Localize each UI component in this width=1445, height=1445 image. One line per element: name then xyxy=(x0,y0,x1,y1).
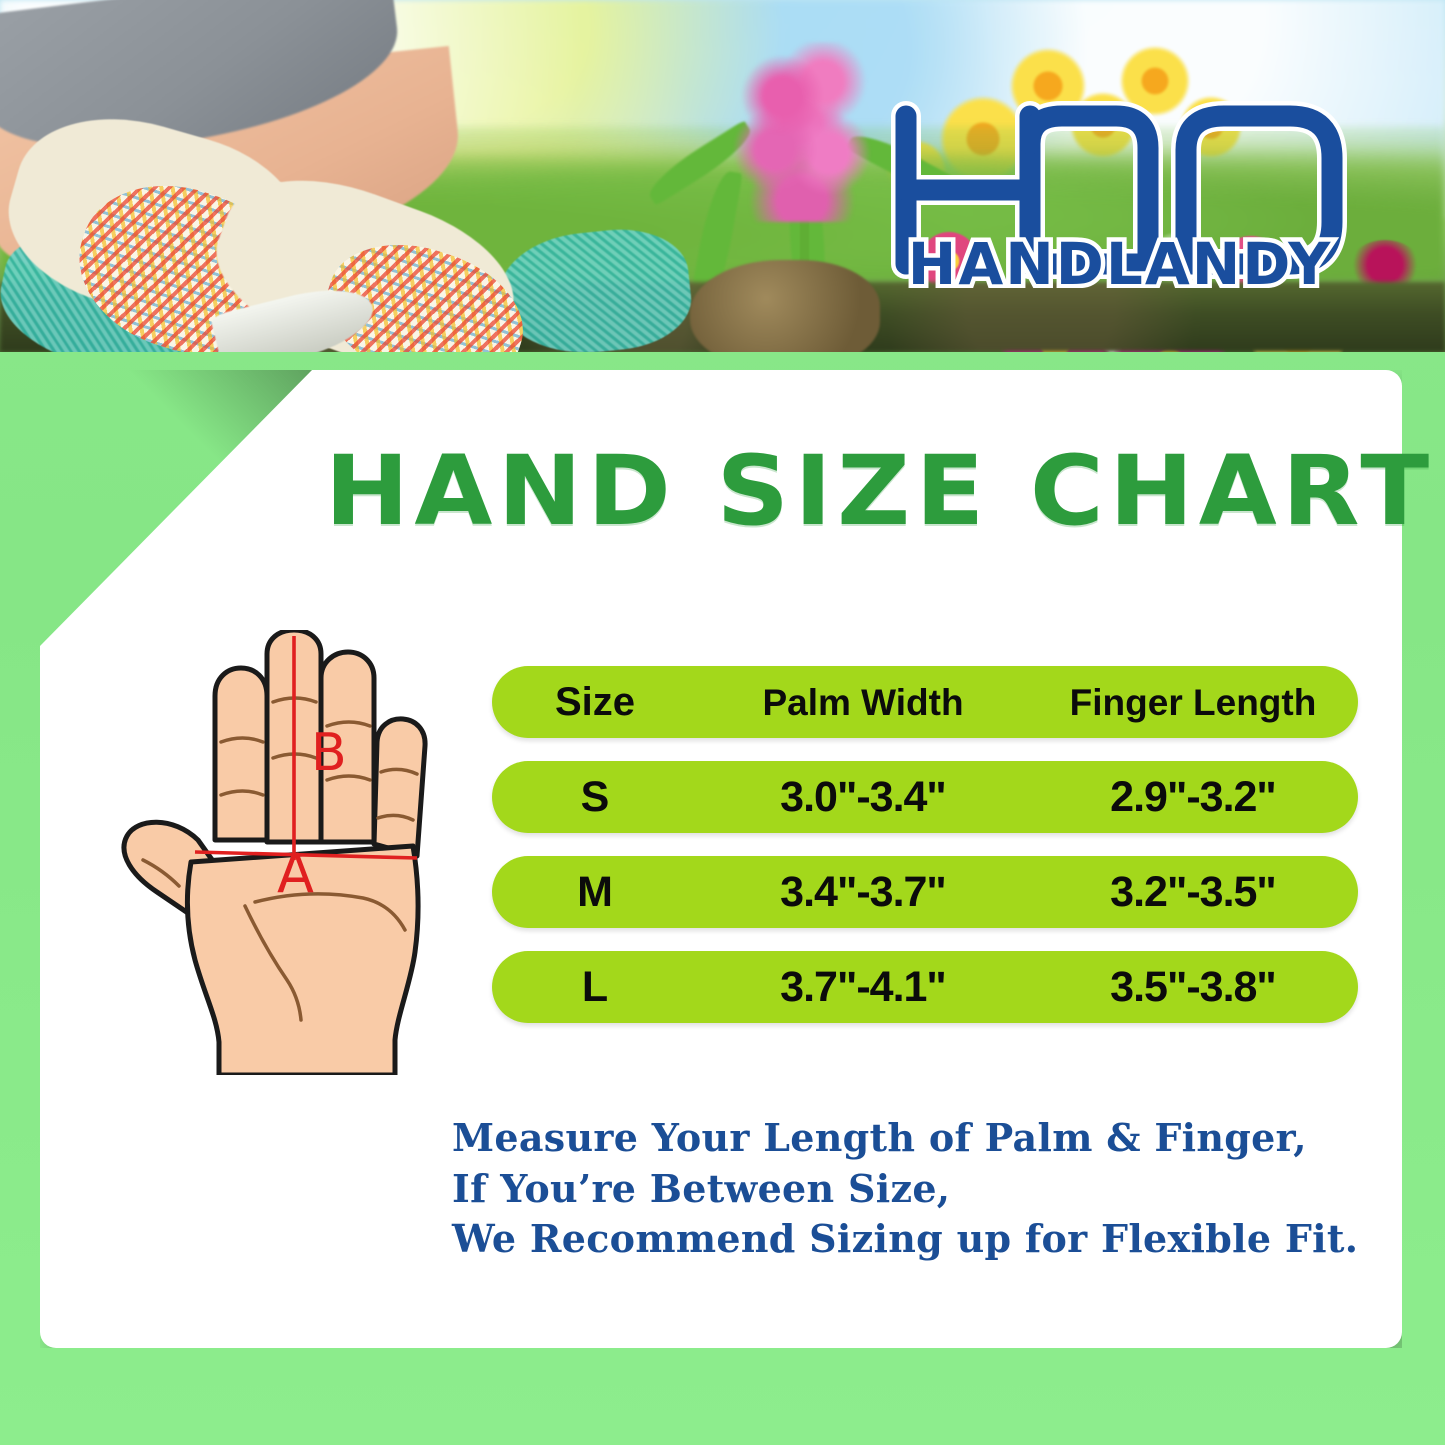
hand-measurement-diagram: B A xyxy=(95,630,495,1075)
table-row: S 3.0"-3.4" 2.9"-3.2" xyxy=(492,761,1358,833)
cell-size: M xyxy=(492,871,698,914)
measurement-instructions: Measure Your Length of Palm & Finger, If… xyxy=(452,1113,1352,1265)
cell-palm-width: 3.7"-4.1" xyxy=(698,966,1028,1009)
instruction-line-1: Measure Your Length of Palm & Finger, xyxy=(452,1113,1352,1164)
cell-palm-width: 3.4"-3.7" xyxy=(698,871,1028,914)
cell-finger-length: 2.9"-3.2" xyxy=(1028,776,1358,819)
plant-rootball xyxy=(690,260,880,352)
column-header-palm-width: Palm Width xyxy=(698,684,1028,721)
handlandy-logo[interactable]: HANDLANDY xyxy=(880,92,1360,288)
instruction-line-2: If You’re Between Size, xyxy=(452,1164,1352,1215)
table-row: L 3.7"-4.1" 3.5"-3.8" xyxy=(492,951,1358,1023)
page-title: HAND SIZE CHART xyxy=(325,443,1386,539)
finger-length-label: B xyxy=(311,723,347,783)
cell-palm-width: 3.0"-3.4" xyxy=(698,776,1028,819)
hyacinth-flower xyxy=(730,42,880,222)
table-row: M 3.4"-3.7" 3.2"-3.5" xyxy=(492,856,1358,928)
cell-size: S xyxy=(492,776,698,819)
hero-garden-photo: HANDLANDY xyxy=(0,0,1445,352)
logo-wordmark: HANDLANDY xyxy=(908,230,1332,288)
size-chart-table: Size Palm Width Finger Length S 3.0"-3.4… xyxy=(492,666,1358,1023)
cell-finger-length: 3.2"-3.5" xyxy=(1028,871,1358,914)
column-header-size: Size xyxy=(492,682,698,722)
table-header-row: Size Palm Width Finger Length xyxy=(492,666,1358,738)
instruction-line-3: We Recommend Sizing up for Flexible Fit. xyxy=(452,1214,1352,1265)
hand-size-chart-page: HANDLANDY HAND SIZE CHART xyxy=(0,0,1445,1445)
column-header-finger-length: Finger Length xyxy=(1028,684,1358,721)
palm-width-label: A xyxy=(277,842,314,905)
cell-finger-length: 3.5"-3.8" xyxy=(1028,966,1358,1009)
cell-size: L xyxy=(492,966,698,1009)
